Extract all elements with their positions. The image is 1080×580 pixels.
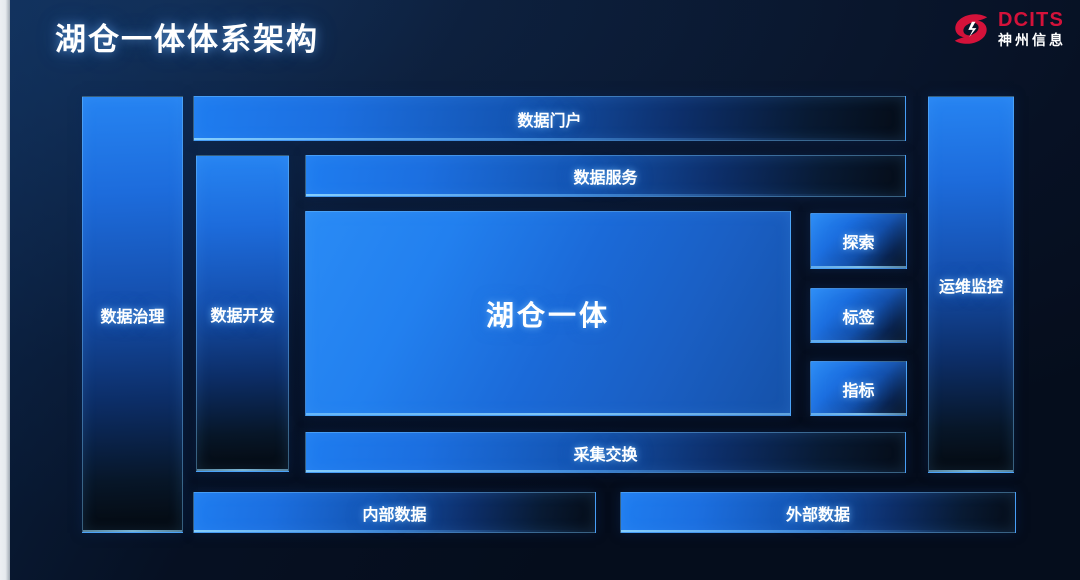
block-label: 数据门户 (517, 107, 581, 131)
block-label: 数据治理 (100, 303, 164, 327)
logo-name-cn: 神州信息 (998, 33, 1066, 47)
logo-wordmark: DCITS 神州信息 (998, 10, 1066, 47)
box-bottom-glow (194, 530, 595, 532)
block-data-development[interactable]: 数据开发 (196, 155, 289, 472)
box-bottom-glow (811, 266, 906, 268)
page-title: 湖仓一体体系架构 (55, 14, 319, 59)
box-bottom-glow (83, 530, 182, 532)
block-ops-monitoring[interactable]: 运维监控 (928, 96, 1014, 473)
block-tag[interactable]: 标签 (810, 288, 907, 343)
block-label: 内部数据 (362, 501, 426, 525)
block-explore[interactable]: 探索 (810, 213, 907, 269)
block-external-data[interactable]: 外部数据 (620, 492, 1016, 533)
box-bottom-glow (306, 413, 790, 415)
box-bottom-glow (929, 470, 1013, 472)
box-bottom-glow (621, 530, 1015, 532)
box-bottom-glow (811, 413, 906, 415)
box-bottom-glow (306, 470, 905, 472)
block-label: 探索 (842, 229, 874, 253)
dcits-swirl-icon (951, 11, 991, 47)
block-internal-data[interactable]: 内部数据 (193, 492, 596, 533)
block-label: 标签 (842, 304, 874, 328)
logo-name-en: DCITS (998, 10, 1066, 30)
box-bottom-glow (194, 138, 905, 140)
box-bottom-glow (811, 340, 906, 342)
block-label: 数据开发 (210, 302, 274, 326)
block-data-service[interactable]: 数据服务 (305, 155, 906, 197)
brand-logo: DCITS 神州信息 (951, 10, 1066, 47)
block-label: 外部数据 (786, 501, 850, 525)
block-label: 采集交换 (573, 441, 637, 465)
block-label: 指标 (842, 377, 874, 401)
block-data-governance[interactable]: 数据治理 (82, 96, 183, 533)
block-metric[interactable]: 指标 (810, 361, 907, 416)
block-label: 数据服务 (573, 164, 637, 188)
left-edge-strip (0, 0, 10, 580)
box-bottom-glow (197, 469, 288, 471)
slide-canvas: 湖仓一体体系架构 DCITS 神州信息 数据治理 数据开发 数据门户 数据服务 … (0, 0, 1080, 580)
block-collection-exchange[interactable]: 采集交换 (305, 432, 906, 473)
block-data-portal[interactable]: 数据门户 (193, 96, 906, 141)
block-label: 运维监控 (939, 273, 1003, 297)
block-label: 湖仓一体 (486, 294, 610, 334)
box-bottom-glow (306, 194, 905, 196)
block-lakehouse[interactable]: 湖仓一体 (305, 211, 791, 416)
